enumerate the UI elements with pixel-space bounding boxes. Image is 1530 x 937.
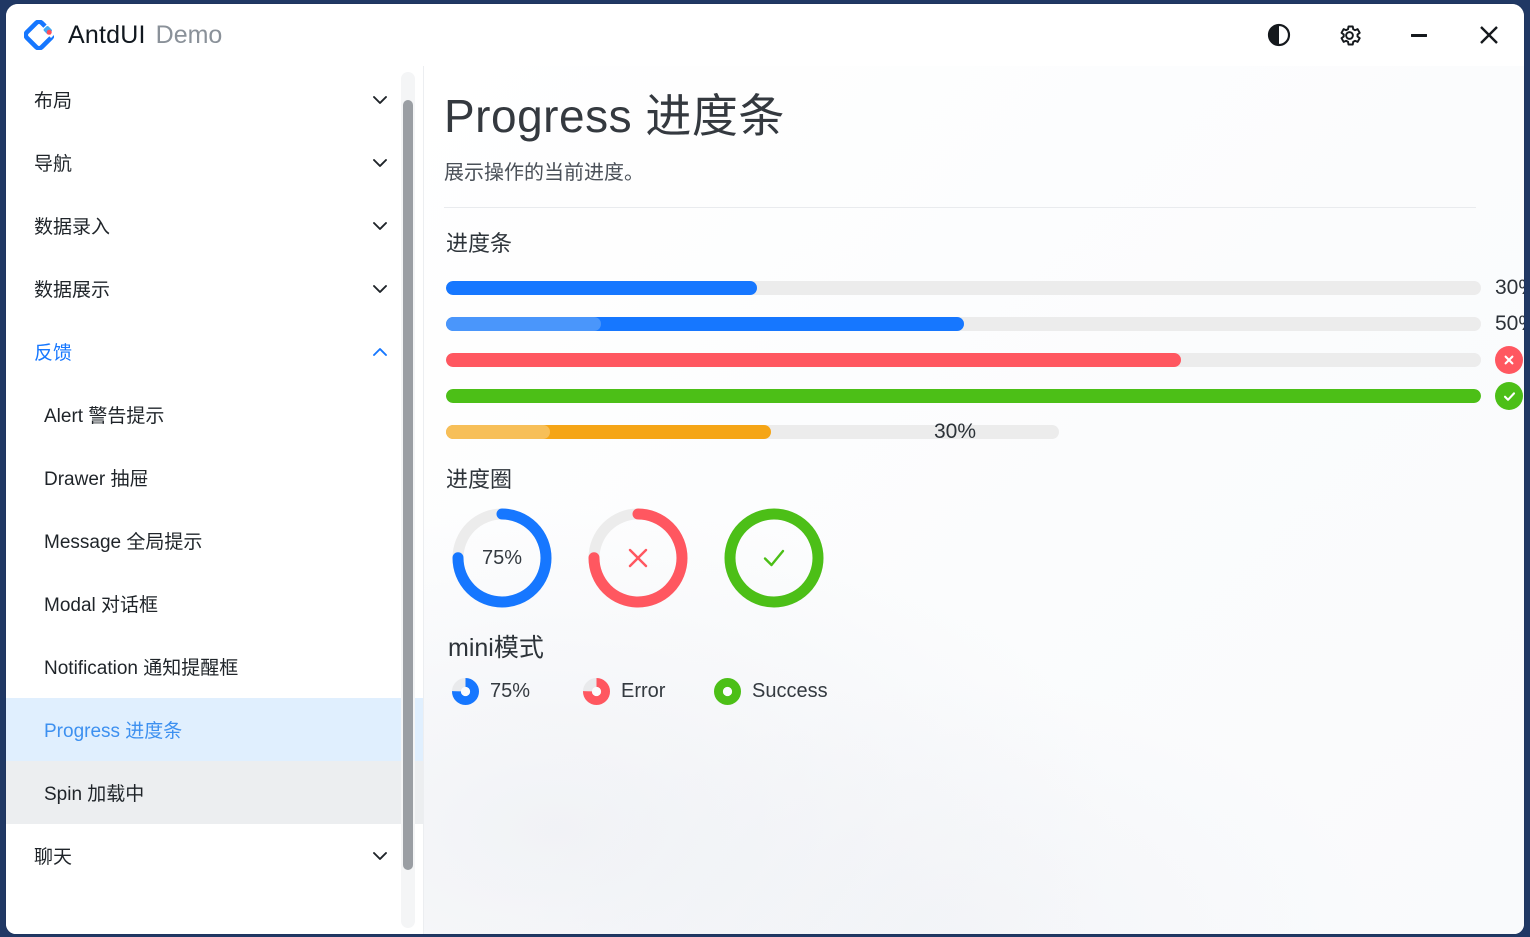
sidebar-item-label: Modal 对话框 xyxy=(44,590,158,617)
window-controls xyxy=(1244,4,1524,66)
sidebar-item-notification[interactable]: Notification 通知提醒框 xyxy=(6,635,424,698)
sidebar-group-label: 聊天 xyxy=(34,842,370,869)
theme-toggle-button[interactable] xyxy=(1244,4,1314,66)
progress-bar-fill xyxy=(446,389,1481,403)
progress-bar-with-success-row: 50% xyxy=(446,306,1476,342)
progress-bar-exception-row xyxy=(446,342,1476,378)
app-window: AntdUI Demo xyxy=(6,4,1524,934)
sidebar-group-data-display[interactable]: 数据展示 xyxy=(8,257,422,320)
title-bar: AntdUI Demo xyxy=(6,4,1524,66)
mini-progress-list: 75% Error Success xyxy=(452,678,1476,705)
progress-circle-percent[interactable]: 75% xyxy=(450,506,554,610)
antdui-logo-icon xyxy=(24,20,54,50)
progress-bar-with-success[interactable] xyxy=(446,317,1481,331)
sidebar-item-modal[interactable]: Modal 对话框 xyxy=(6,572,424,635)
sidebar-group-layout[interactable]: 布局 xyxy=(8,68,422,131)
progress-circle-exception[interactable] xyxy=(586,506,690,610)
close-button[interactable] xyxy=(1454,4,1524,66)
sidebar-group-label: 数据展示 xyxy=(34,275,370,302)
progress-circle-success[interactable] xyxy=(722,506,826,610)
chevron-down-icon xyxy=(370,90,390,110)
progress-circles: 75% xyxy=(450,506,1476,610)
mini-progress-label: 75% xyxy=(490,680,530,703)
sidebar-scrollbar-track[interactable] xyxy=(401,72,415,928)
mini-progress-success[interactable]: Success xyxy=(714,678,845,705)
sidebar-item-message[interactable]: Message 全局提示 xyxy=(6,509,424,572)
sidebar-item-label: Drawer 抽屉 xyxy=(44,464,149,491)
sidebar-item-alert[interactable]: Alert 警告提示 xyxy=(6,383,424,446)
success-icon xyxy=(1495,382,1523,410)
progress-bar-success-row xyxy=(446,378,1476,414)
sidebar-item-label: Progress 进度条 xyxy=(44,716,182,743)
mini-progress-label: Error xyxy=(621,680,665,703)
chevron-down-icon xyxy=(370,153,390,173)
app-suffix: Demo xyxy=(156,21,223,50)
chevron-down-icon xyxy=(370,279,390,299)
progress-bar-fill xyxy=(446,353,1181,367)
section-title-mini: mini模式 xyxy=(448,628,1476,664)
title-bar-brand: AntdUI Demo xyxy=(6,20,222,50)
minimize-button[interactable] xyxy=(1384,4,1454,66)
header-divider xyxy=(444,207,1476,208)
progress-bar-percent-label: 30% xyxy=(934,420,976,444)
sidebar-group-data-entry[interactable]: 数据录入 xyxy=(8,194,422,257)
progress-bar-percent-label: 50% xyxy=(1495,312,1524,336)
mini-progress-percent[interactable]: 75% xyxy=(452,678,583,705)
progress-bar-exception[interactable] xyxy=(446,353,1481,367)
page-description: 展示操作的当前进度。 xyxy=(444,156,1476,185)
main-content: Progress 进度条 展示操作的当前进度。 进度条 30% 50% xyxy=(424,66,1524,934)
sidebar: 布局 导航 数据录入 xyxy=(6,66,424,934)
mini-donut-icon xyxy=(714,678,741,705)
body-area: 布局 导航 数据录入 xyxy=(6,66,1524,934)
page-title: Progress 进度条 xyxy=(444,80,1476,146)
error-icon xyxy=(586,506,690,610)
progress-bar-success[interactable] xyxy=(446,389,1481,403)
chevron-up-icon xyxy=(370,342,390,362)
sidebar-group-label: 反馈 xyxy=(34,338,370,365)
sidebar-item-label: Spin 加载中 xyxy=(44,779,144,806)
section-title-bars: 进度条 xyxy=(446,226,1476,258)
sidebar-group-chat[interactable]: 聊天 xyxy=(8,824,422,887)
success-icon xyxy=(722,506,826,610)
mini-progress-exception[interactable]: Error xyxy=(583,678,714,705)
progress-bar-success-segment xyxy=(446,425,550,439)
mini-progress-label: Success xyxy=(752,680,828,703)
half-circle-contrast-icon xyxy=(1266,22,1292,48)
sidebar-group-label: 导航 xyxy=(34,149,370,176)
sidebar-menu: 布局 导航 数据录入 xyxy=(6,66,424,887)
sidebar-item-progress[interactable]: Progress 进度条 xyxy=(6,698,424,761)
close-icon xyxy=(1474,20,1504,50)
sidebar-item-label: Notification 通知提醒框 xyxy=(44,653,238,680)
sidebar-group-feedback[interactable]: 反馈 xyxy=(8,320,422,383)
gear-icon xyxy=(1336,22,1363,49)
settings-button[interactable] xyxy=(1314,4,1384,66)
sidebar-group-navigation[interactable]: 导航 xyxy=(8,131,422,194)
sidebar-item-label: Message 全局提示 xyxy=(44,527,202,554)
chevron-down-icon xyxy=(370,216,390,236)
sidebar-group-label: 数据录入 xyxy=(34,212,370,239)
progress-bar-default-row: 30% xyxy=(446,270,1476,306)
sidebar-item-spin[interactable]: Spin 加载中 xyxy=(6,761,424,824)
sidebar-scrollbar-thumb[interactable] xyxy=(403,100,413,870)
progress-bar-inline-label-row: 30% xyxy=(446,414,1476,450)
error-icon xyxy=(1495,346,1523,374)
progress-bar-fill xyxy=(446,281,757,295)
app-name: AntdUI xyxy=(68,21,146,50)
sidebar-item-drawer[interactable]: Drawer 抽屉 xyxy=(6,446,424,509)
sidebar-group-label: 布局 xyxy=(34,86,370,113)
progress-circle-label: 75% xyxy=(450,506,554,610)
progress-bar-default[interactable] xyxy=(446,281,1481,295)
minimize-icon xyxy=(1406,22,1432,48)
section-title-circles: 进度圈 xyxy=(446,462,1476,494)
progress-bar-percent-label: 30% xyxy=(1495,276,1524,300)
progress-bar-success-segment xyxy=(446,317,601,331)
chevron-down-icon xyxy=(370,846,390,866)
mini-donut-icon xyxy=(452,678,479,705)
sidebar-item-label: Alert 警告提示 xyxy=(44,401,164,428)
mini-donut-icon xyxy=(583,678,610,705)
